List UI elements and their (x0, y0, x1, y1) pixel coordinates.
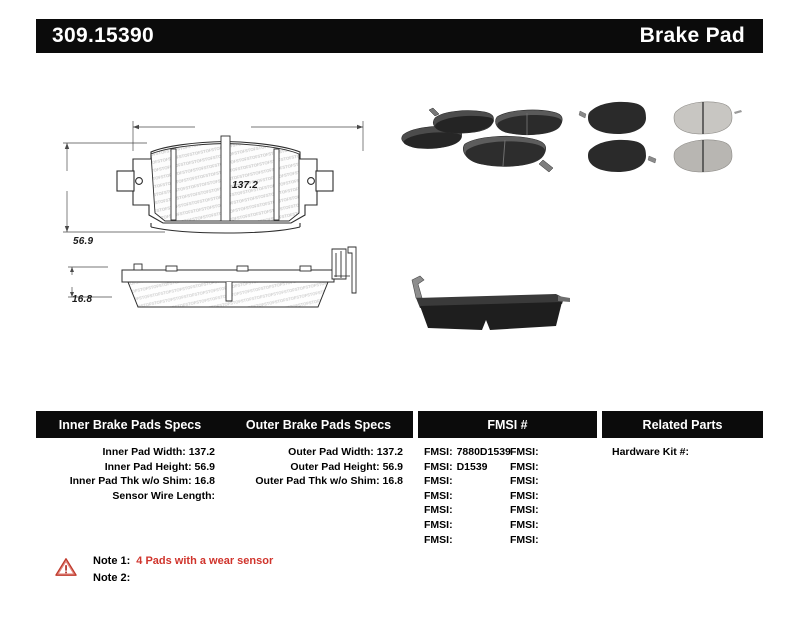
header-fmsi: FMSI # (418, 411, 597, 438)
note-rows: Note 1:4 Pads with a wear sensorNote 2: (93, 553, 273, 587)
fmsi-line: FMSI: (424, 503, 510, 518)
title-bar: 309.15390 Brake Pad (36, 19, 763, 53)
fmsi-label: FMSI: (510, 445, 539, 460)
friction-block-photo (420, 302, 562, 330)
pad-photo-item (674, 140, 732, 172)
inner-spec-line: Inner Pad Height: 56.9 (36, 460, 215, 475)
wear-sensor-clip (332, 247, 356, 293)
spec-table: Inner Brake Pads Specs Outer Brake Pads … (36, 411, 763, 563)
pad-tab-photo (558, 296, 570, 302)
pad-photo-item (496, 110, 563, 135)
fmsi-line: FMSI: (510, 460, 596, 475)
fmsi-label: FMSI: (424, 445, 453, 460)
note-value: 4 Pads with a wear sensor (136, 555, 273, 567)
photo-four-pads-angled (393, 98, 583, 183)
cell-fmsi: FMSI:7880D1539FMSI:D1539FMSI:FMSI:FMSI:F… (418, 438, 597, 563)
cell-related-parts: Hardware Kit #: (602, 438, 763, 563)
header-outer-specs: Outer Brake Pads Specs (224, 411, 413, 438)
outer-spec-line: Outer Pad Thk w/o Shim: 16.8 (224, 474, 403, 489)
warning-triangle-icon (55, 557, 77, 577)
fmsi-line: FMSI: (424, 533, 510, 548)
pad-photo-item (463, 136, 553, 172)
note-row: Note 2: (93, 570, 273, 587)
dimension-label-width: 137.2 (232, 180, 258, 191)
fmsi-line: FMSI: (510, 445, 596, 460)
inner-spec-line: Inner Pad Width: 137.2 (36, 445, 215, 460)
header-related-parts: Related Parts (602, 411, 763, 438)
photo-four-pads-grid (574, 98, 764, 183)
drawing-area: STOPTECH (0, 60, 800, 400)
side-view-drawing: STOPTECH (60, 245, 400, 335)
pad-photo-item (579, 102, 646, 134)
part-number: 309.15390 (52, 24, 154, 48)
cell-outer-specs: Outer Pad Width: 137.2Outer Pad Height: … (224, 438, 413, 563)
fmsi-label: FMSI: (424, 533, 453, 548)
note-label: Note 1: (93, 553, 130, 570)
fmsi-line: FMSI: (510, 474, 596, 489)
fmsi-label: FMSI: (424, 474, 453, 489)
header-inner-specs: Inner Brake Pads Specs (36, 411, 224, 438)
fmsi-column-left: FMSI:7880D1539FMSI:D1539FMSI:FMSI:FMSI:F… (424, 445, 510, 563)
outer-spec-line: Outer Pad Width: 137.2 (224, 445, 403, 460)
spec-sheet-page: 309.15390 Brake Pad STOPTECH (0, 0, 800, 619)
side-center-notch (226, 282, 232, 301)
fmsi-label: FMSI: (510, 503, 539, 518)
fmsi-column-right: FMSI:FMSI:FMSI:FMSI:FMSI:FMSI:FMSI: (510, 445, 596, 563)
fmsi-label: FMSI: (510, 533, 539, 548)
note-row: Note 1:4 Pads with a wear sensor (93, 553, 273, 570)
fmsi-label: FMSI: (424, 503, 453, 518)
side-backing-plate (122, 270, 334, 282)
fmsi-line: FMSI: (510, 518, 596, 533)
pad-backing-sides (151, 223, 300, 227)
dimension-label-thickness: 16.8 (72, 294, 92, 305)
fmsi-line: FMSI: (424, 489, 510, 504)
fmsi-value: 7880D1539 (457, 446, 511, 458)
pad-backing-edge (151, 227, 300, 233)
fmsi-label: FMSI: (424, 518, 453, 533)
fmsi-label: FMSI: (510, 460, 539, 475)
spec-table-body: Inner Pad Width: 137.2Inner Pad Height: … (36, 438, 763, 563)
pad-photo-item (588, 140, 656, 172)
note-label: Note 2: (93, 570, 130, 587)
fmsi-line: FMSI: (510, 503, 596, 518)
inner-spec-line: Inner Pad Thk w/o Shim: 16.8 (36, 474, 215, 489)
sensor-clip-photo (412, 276, 424, 298)
fmsi-line: FMSI: (510, 489, 596, 504)
fmsi-label: FMSI: (424, 460, 453, 475)
photo-single-pad-edge (398, 268, 578, 338)
fmsi-label: FMSI: (424, 489, 453, 504)
related-part-line: Hardware Kit #: (612, 445, 763, 460)
cell-inner-specs: Inner Pad Width: 137.2Inner Pad Height: … (36, 438, 224, 563)
pad-photo-item (674, 102, 742, 134)
fmsi-line: FMSI:7880D1539 (424, 445, 510, 460)
fmsi-label: FMSI: (510, 518, 539, 533)
inner-spec-line: Sensor Wire Length: (36, 489, 215, 504)
fmsi-line: FMSI: (424, 518, 510, 533)
dimension-thickness (68, 267, 112, 297)
spec-table-header-row: Inner Brake Pads Specs Outer Brake Pads … (36, 411, 763, 438)
pad-photo-item (429, 108, 494, 133)
product-type: Brake Pad (640, 24, 745, 48)
outer-spec-line: Outer Pad Height: 56.9 (224, 460, 403, 475)
fmsi-label: FMSI: (510, 474, 539, 489)
fmsi-value: D1539 (457, 461, 488, 473)
fmsi-label: FMSI: (510, 489, 539, 504)
fmsi-line: FMSI: (424, 474, 510, 489)
fmsi-line: FMSI:D1539 (424, 460, 510, 475)
fmsi-line: FMSI: (510, 533, 596, 548)
